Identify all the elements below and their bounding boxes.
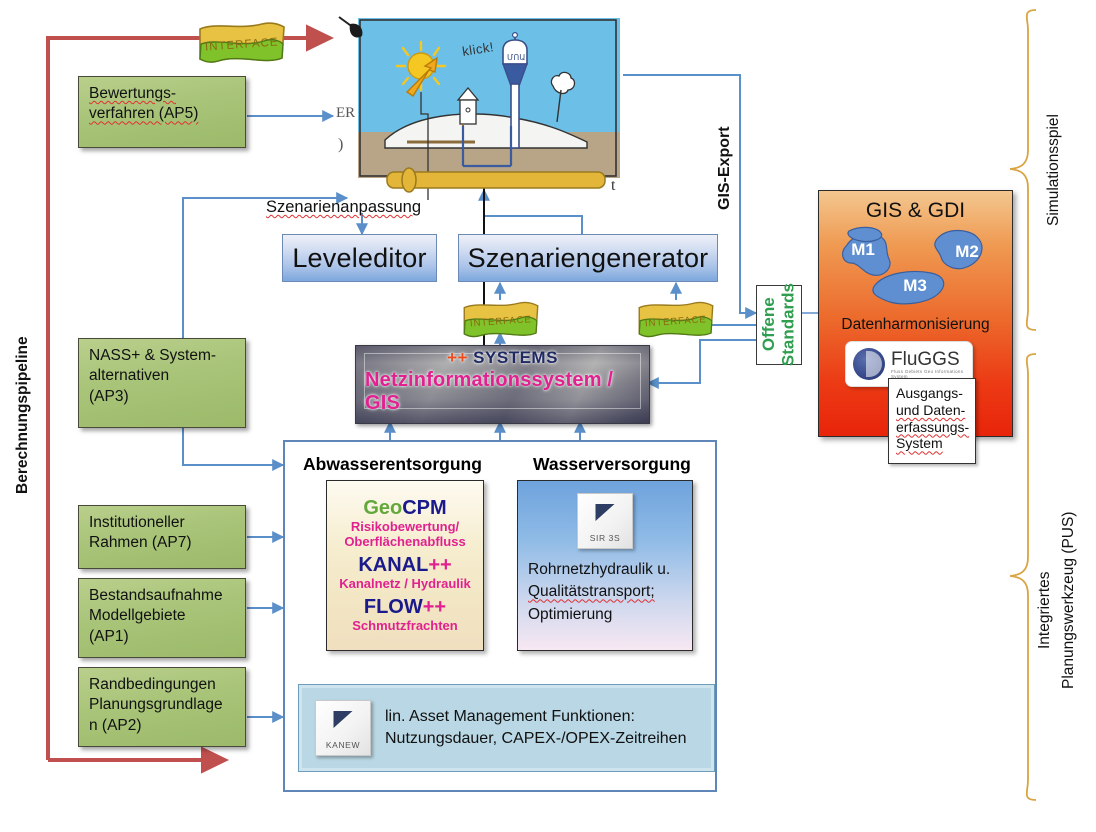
wp-ap3-line1: NASS+ & System- [89, 346, 235, 366]
simulationsspiel-sketch[interactable]: klick! ՄՈԱ t [355, 14, 623, 200]
wp-ap1-line2: Modellgebiete [89, 606, 235, 626]
offene-standards-box[interactable]: OffeneStandards [756, 285, 802, 365]
wp-ap7-line1: Institutioneller [89, 513, 235, 533]
wp-box-ap7[interactable]: Institutioneller Rahmen (AP7) [78, 505, 246, 569]
interface-tag-top[interactable]: INTERFACE [196, 18, 288, 66]
wp-ap1-line3: (AP1) [89, 627, 235, 647]
sir3s-logo: SIR 3S [577, 493, 633, 549]
szenarienanpassung-label: Szenarienanpassung [266, 198, 421, 217]
right-brace-pus [1006, 352, 1040, 804]
pen-nib-icon [336, 14, 368, 44]
svg-text:ՄՈԱ: ՄՈԱ [507, 53, 525, 62]
pus-label: Integriertes [1036, 470, 1055, 750]
wp-ap2-line1: Randbedingungen [89, 675, 235, 695]
svg-text:M1: M1 [851, 240, 875, 259]
wp-ap3-line2: alternativen [89, 366, 235, 386]
abwasser-model-box[interactable]: GeoCPM Risikobewertung/ Oberflächenabflu… [326, 480, 484, 651]
wp-ap3-line3: (AP3) [89, 387, 235, 407]
pus-label-line2: Planungswerkzeug (PUS) [1060, 511, 1077, 688]
diagram-canvas: Berechnungspipeline Bewertungs- verfahre… [0, 0, 1096, 832]
product-flow: FLOW++ [364, 596, 446, 619]
wp-box-ap2[interactable]: Randbedingungen Planungsgrundlage n (AP2… [78, 667, 246, 747]
sketch-fragment-paren: ) [338, 136, 343, 154]
gis-gdi-title: GIS & GDI [819, 199, 1012, 223]
interface-tag-standards[interactable]: INTERFACE [632, 298, 720, 340]
offene-standards-label: OffeneStandards [759, 283, 798, 366]
wasserversorgung-desc: Rohrnetzhydraulik u. Qualitätstransport;… [518, 559, 680, 626]
note-line4: System [896, 435, 968, 452]
berechnungspipeline-label: Berechnungspipeline [14, 300, 33, 530]
kanew-triangle-icon [334, 711, 353, 728]
simulationsspiel-label: Simulationsspiel [1045, 50, 1064, 290]
wasserversorgung-model-box[interactable]: SIR 3S Rohrnetzhydraulik u. Qualitätstra… [517, 480, 693, 651]
asset-management-strip[interactable]: KANEW lin. Asset Management Funktionen: … [298, 684, 715, 772]
note-line1: Ausgangs- [896, 385, 968, 402]
szenariengenerator-label: Szenariengenerator [468, 243, 709, 274]
product-geocpm-desc: Risikobewertung/ Oberflächenabfluss [344, 520, 465, 550]
leveleditor-label: Leveleditor [292, 243, 426, 274]
interface-tag-szenariengenerator[interactable]: INTERFACE [457, 298, 545, 340]
wp-ap2-line2: Planungsgrundlage [89, 695, 235, 715]
systems-title: ++ SYSTEMS [447, 348, 558, 368]
product-geocpm: GeoCPM [363, 497, 446, 520]
wp-ap2-line3: n (AP2) [89, 716, 235, 736]
pus-label-line1: Integriertes [1036, 571, 1053, 649]
wp-ap1-line1: Bestandsaufnahme [89, 586, 235, 606]
wp-box-ap5[interactable]: Bewertungs- verfahren (AP5) [78, 76, 246, 148]
product-kanal: KANAL++ [358, 554, 451, 577]
sir3s-logo-label: SIR 3S [578, 533, 632, 543]
leveleditor-box[interactable]: Leveleditor [282, 234, 437, 282]
szenariengenerator-box[interactable]: Szenariengenerator [458, 234, 718, 282]
wp-box-ap3[interactable]: NASS+ & System- alternativen (AP3) [78, 338, 246, 428]
note-line3: erfassungs- [896, 419, 968, 436]
wp-ap5-line2: verfahren (AP5) [89, 104, 235, 124]
sketch-fragment-er: ER [336, 105, 355, 122]
systems-subtitle: Netzinformationssystem / GIS [365, 369, 640, 415]
time-axis-label: t [611, 177, 616, 194]
ausgangs-system-note[interactable]: Ausgangs- und Daten- erfassungs- System [888, 378, 976, 464]
wp-ap7-line2: Rahmen (AP7) [89, 533, 235, 553]
gis-export-label: GIS-Export [715, 118, 734, 218]
systems-name: SYSTEMS [473, 348, 558, 367]
right-brace-simulationsspiel [1006, 8, 1040, 333]
wasserversorgung-title: Wasserversorgung [533, 454, 691, 475]
wp-ap5-line1: Bewertungs- [89, 84, 235, 104]
asset-management-text: lin. Asset Management Funktionen: Nutzun… [385, 706, 686, 749]
product-flow-desc: Schmutzfrachten [352, 619, 457, 634]
abwasserentsorgung-title: Abwasserentsorgung [303, 454, 482, 475]
systems-plus: ++ [447, 348, 468, 367]
wp-box-ap1[interactable]: Bestandsaufnahme Modellgebiete (AP1) [78, 578, 246, 658]
pus-label-2: Planungswerkzeug (PUS) [1060, 440, 1079, 760]
note-line2: und Daten- [896, 402, 968, 419]
sir3s-triangle-icon [596, 504, 615, 521]
fluggs-sub: Fluss Gebiets Geo Informations System [891, 369, 972, 379]
svg-text:M2: M2 [955, 242, 979, 261]
datenharmonisierung-label: Datenharmonisierung [819, 316, 1012, 334]
product-kanal-desc: Kanalnetz / Hydraulik [339, 577, 470, 592]
kanew-logo-label: KANEW [316, 740, 370, 750]
svg-text:M3: M3 [903, 276, 927, 295]
fluggs-name: FluGGS [891, 350, 972, 369]
plusplus-systems-panel[interactable]: ++ SYSTEMS Netzinformationssystem / GIS [355, 345, 650, 424]
fluggs-logo-icon [853, 348, 885, 380]
kanew-logo: KANEW [315, 700, 371, 756]
